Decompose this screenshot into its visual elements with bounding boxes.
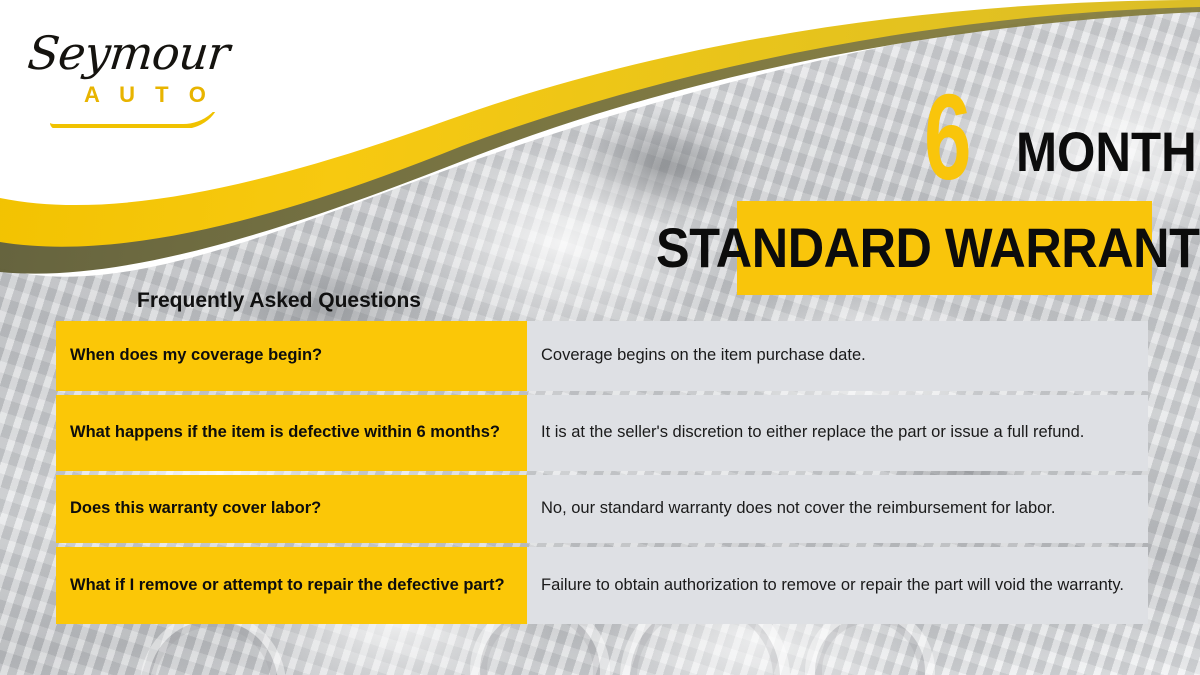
standard-warranty-label: STANDARD WARRANTY: [656, 220, 1200, 276]
table-row: What happens if the item is defective wi…: [56, 395, 1148, 471]
faq-question-cell: What if I remove or attempt to repair th…: [56, 547, 527, 624]
table-row: When does my coverage begin? Coverage be…: [56, 321, 1148, 391]
table-row: Does this warranty cover labor? No, our …: [56, 475, 1148, 543]
faq-answer-cell: Failure to obtain authorization to remov…: [527, 547, 1148, 624]
faq-answer-text: It is at the seller's discretion to eith…: [541, 422, 1084, 443]
logo-swoosh-underline: [50, 112, 222, 128]
faq-question-text: What if I remove or attempt to repair th…: [70, 575, 505, 596]
warranty-slide: Seymour A U T O 6 MONTH STANDARD WARRANT…: [0, 0, 1200, 675]
faq-question-cell: When does my coverage begin?: [56, 321, 527, 391]
faq-heading: Frequently Asked Questions: [137, 289, 421, 313]
faq-answer-text: No, our standard warranty does not cover…: [541, 498, 1056, 519]
seymour-auto-logo: Seymour A U T O: [22, 20, 232, 135]
faq-table: When does my coverage begin? Coverage be…: [56, 321, 1148, 624]
faq-question-cell: What happens if the item is defective wi…: [56, 395, 527, 471]
faq-answer-text: Coverage begins on the item purchase dat…: [541, 345, 866, 366]
faq-question-text: What happens if the item is defective wi…: [70, 422, 500, 443]
faq-answer-cell: No, our standard warranty does not cover…: [527, 475, 1148, 543]
faq-answer-cell: Coverage begins on the item purchase dat…: [527, 321, 1148, 391]
faq-question-text: Does this warranty cover labor?: [70, 498, 321, 519]
warranty-duration-unit: MONTH: [1016, 124, 1197, 180]
faq-question-cell: Does this warranty cover labor?: [56, 475, 527, 543]
warranty-duration-number: 6: [924, 76, 970, 198]
faq-answer-text: Failure to obtain authorization to remov…: [541, 575, 1124, 596]
faq-question-text: When does my coverage begin?: [70, 345, 322, 366]
table-row: What if I remove or attempt to repair th…: [56, 547, 1148, 624]
logo-script-name: Seymour: [25, 26, 231, 80]
logo-sub-name: A U T O: [84, 82, 213, 108]
standard-warranty-banner: STANDARD WARRANTY: [737, 201, 1152, 295]
faq-answer-cell: It is at the seller's discretion to eith…: [527, 395, 1148, 471]
